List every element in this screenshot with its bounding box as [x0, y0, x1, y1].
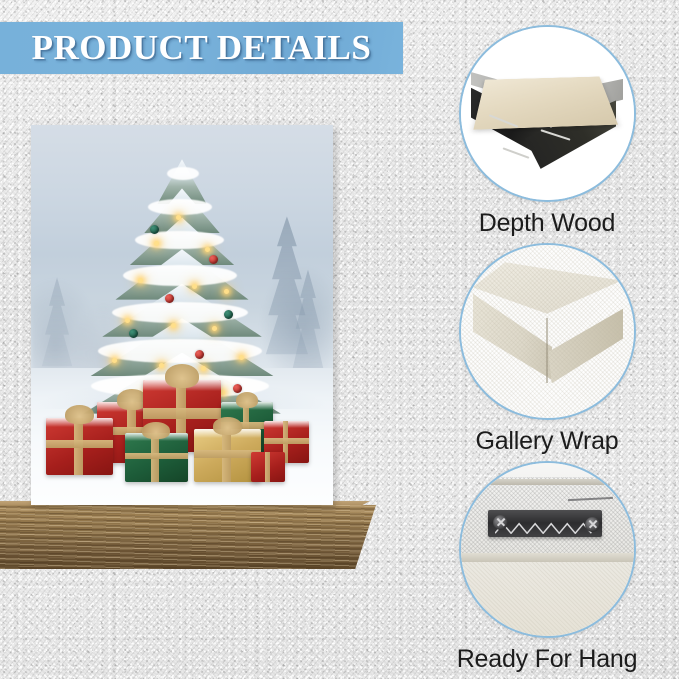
- gift-box-red-3: [46, 418, 112, 475]
- wood-floating-shelf: [0, 505, 376, 569]
- feature-label-gallery-wrap: Gallery Wrap: [449, 427, 645, 456]
- screw-right-icon: [585, 517, 600, 532]
- canvas-face-icon: [474, 76, 619, 129]
- artwork-scene: [31, 125, 333, 505]
- gallery-wrap-image: [459, 243, 636, 420]
- feature-label-ready-for-hang: Ready For Hang: [449, 645, 645, 674]
- page-title: PRODUCT DETAILS: [32, 28, 372, 68]
- feature-label-depth-wood: Depth Wood: [449, 209, 645, 238]
- canvas-wall-art: [31, 125, 333, 505]
- sawtooth-teeth-icon: [495, 522, 595, 534]
- product-details-infographic: PRODUCT DETAILS: [0, 0, 679, 679]
- feature-depth-wood: Depth Wood: [449, 25, 645, 238]
- ready-for-hang-image: [459, 461, 636, 638]
- feature-gallery-wrap: Gallery Wrap: [449, 243, 645, 456]
- wrap-corner-seam-icon: [546, 318, 548, 384]
- gift-box-green-1: [125, 433, 188, 482]
- title-banner: PRODUCT DETAILS: [0, 22, 403, 74]
- depth-wood-image: [459, 25, 636, 202]
- feature-ready-for-hang: Ready For Hang: [449, 461, 645, 674]
- gift-box-red-5: [251, 452, 284, 482]
